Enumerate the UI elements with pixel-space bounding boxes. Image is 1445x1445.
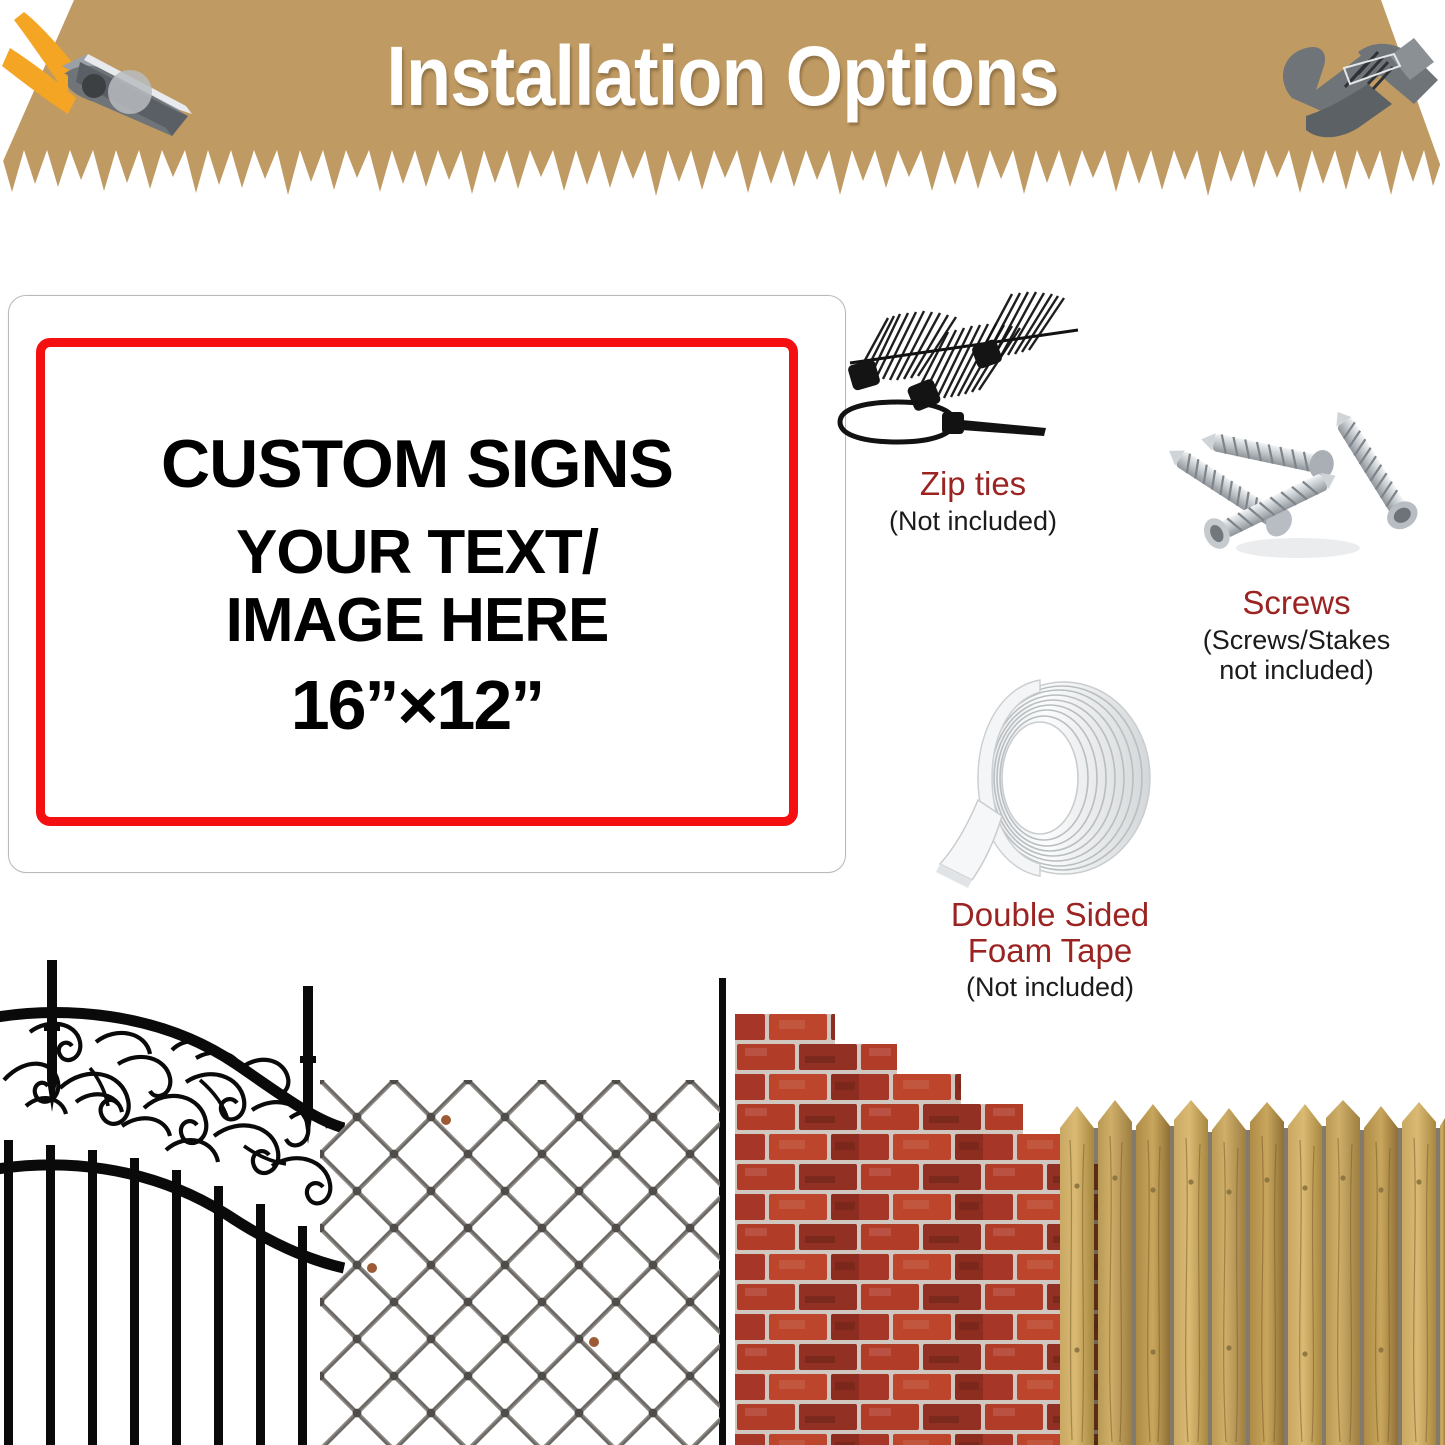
accessory-zip-ties: Zip ties (Not included) xyxy=(828,258,1118,536)
iron-gate-icon xyxy=(0,960,345,1445)
scene-divider xyxy=(719,978,726,1445)
foam-tape-label: Double Sided Foam Tape xyxy=(900,897,1200,968)
sign-subheading-line-2: IMAGE HERE xyxy=(226,590,609,652)
zip-ties-note: (Not included) xyxy=(828,506,1118,536)
accessory-screws: Screws (Screws/Stakes not included) xyxy=(1148,408,1445,685)
header-banner: Installation Options xyxy=(0,0,1445,206)
zip-ties-art xyxy=(828,258,1118,458)
wood-fence-icon xyxy=(1060,1100,1445,1445)
sign-heading: CUSTOM SIGNS xyxy=(161,430,673,498)
zip-ties-label: Zip ties xyxy=(828,466,1118,502)
foam-tape-art xyxy=(900,668,1200,893)
accessory-foam-tape: Double Sided Foam Tape (Not included) xyxy=(900,668,1200,1002)
screws-label: Screws xyxy=(1148,585,1445,621)
foam-tape-label-line-1: Double Sided xyxy=(900,897,1200,933)
screws-note-line-1: (Screws/Stakes xyxy=(1148,625,1445,655)
sign-preview-card: CUSTOM SIGNS YOUR TEXT/ IMAGE HERE 16”×1… xyxy=(8,295,846,873)
screws-icon xyxy=(1148,408,1428,573)
sign-text-block: CUSTOM SIGNS YOUR TEXT/ IMAGE HERE 16”×1… xyxy=(45,347,789,817)
sign-dimensions: 16”×12” xyxy=(291,670,544,740)
sign-red-border: CUSTOM SIGNS YOUR TEXT/ IMAGE HERE 16”×1… xyxy=(36,338,798,826)
zip-ties-icon xyxy=(828,258,1098,458)
sign-subheading-line-1: YOUR TEXT/ xyxy=(236,522,598,584)
foam-tape-icon xyxy=(900,668,1200,893)
mounting-surfaces-scene xyxy=(0,960,1445,1445)
screws-art xyxy=(1148,408,1445,573)
page-title: Installation Options xyxy=(87,28,1359,125)
chain-link-fence-icon xyxy=(320,1080,720,1445)
